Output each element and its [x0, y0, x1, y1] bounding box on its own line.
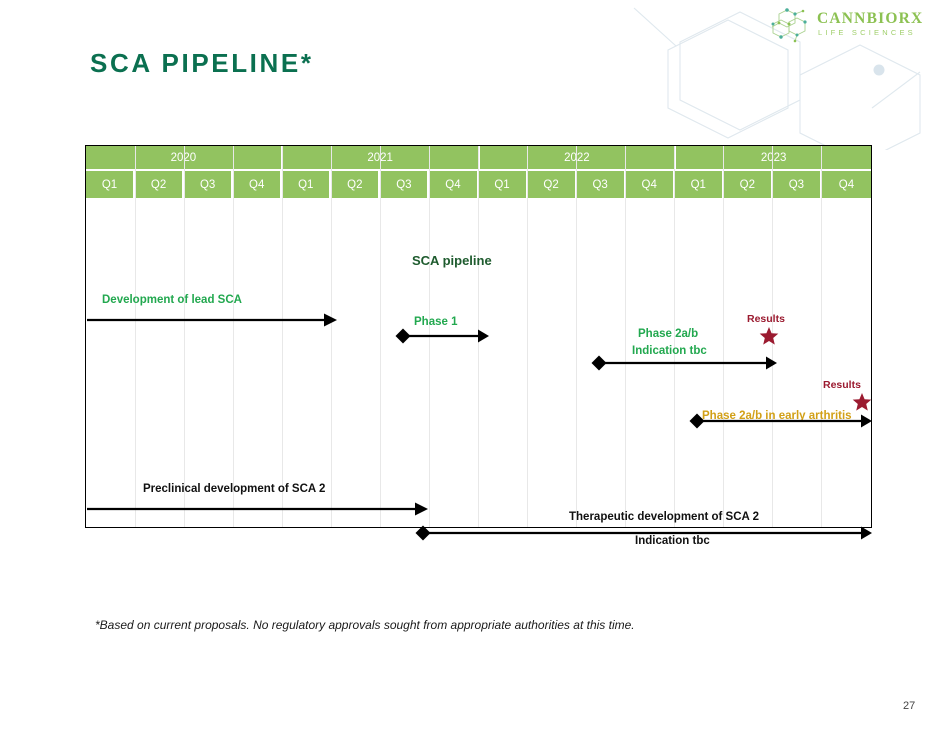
- milestone-star-1: [759, 326, 779, 346]
- track-label-lead-sca: Development of lead SCA: [102, 294, 242, 306]
- milestone-label-results-1: Results: [747, 313, 785, 325]
- arrow-arthritis: [688, 411, 873, 431]
- arrow-lead-sca: [86, 312, 340, 328]
- chart-plot-area: SCA pipeline Development of lead SCA Pha…: [86, 198, 871, 527]
- footnote: *Based on current proposals. No regulato…: [95, 618, 635, 632]
- brand-logo: CANNBIORX LIFE SCIENCES: [765, 6, 945, 46]
- page-number: 27: [903, 700, 915, 712]
- milestone-star-2: [852, 392, 872, 412]
- molecule-icon: [765, 6, 815, 44]
- track-label-phase2ab: Phase 2a/b: [638, 328, 698, 340]
- pipeline-chart: 2020 2021 2022 2023 Q1 Q2 Q3 Q4 Q1 Q2 Q3…: [85, 145, 872, 528]
- page-title: SCA PIPELINE*: [90, 48, 314, 79]
- milestone-label-results-2: Results: [823, 379, 861, 391]
- logo-tagline: LIFE SCIENCES: [818, 28, 916, 37]
- arrow-phase1: [394, 326, 490, 346]
- track-label-therapeutic: Therapeutic development of SCA 2: [569, 511, 759, 523]
- chart-heading: SCA pipeline: [412, 253, 492, 268]
- logo-wordmark: CANNBIORX: [817, 10, 923, 28]
- arrow-preclinical: [86, 501, 430, 517]
- arrow-phase2ab: [590, 353, 778, 373]
- track-label-preclinical: Preclinical development of SCA 2: [143, 483, 325, 495]
- track-label-therapeutic-line2: Indication tbc: [635, 535, 710, 547]
